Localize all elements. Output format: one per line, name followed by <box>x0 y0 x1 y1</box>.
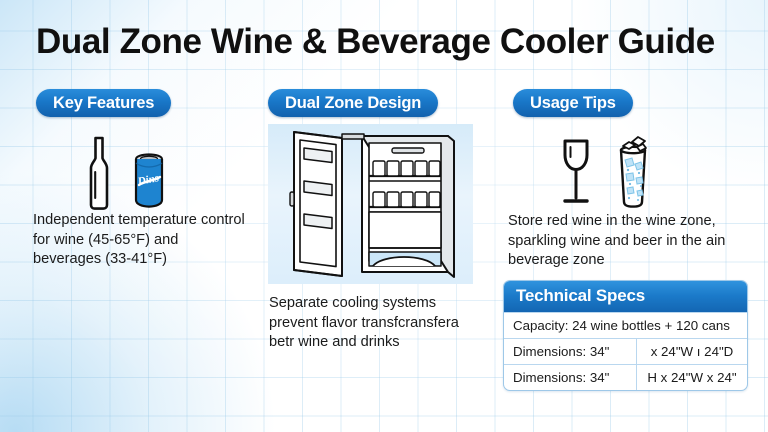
usage-tips-body: Store red wine in the wine zone, sparkli… <box>508 212 751 271</box>
dual-zone-body: Separate cooling systems prevent flavor … <box>269 294 484 353</box>
technical-specs-header: Technical Specs <box>504 281 747 312</box>
spec-dimensions-label-1: Dimensions: 34" <box>504 339 637 364</box>
table-row: Capacity: 24 wine bottles + 120 cans <box>504 312 747 338</box>
spec-dimensions-value-1: x 24"W ı 24"D <box>637 339 747 364</box>
badge-dual-zone-design: Dual Zone Design <box>268 89 438 117</box>
wine-bottle-icon <box>84 136 114 215</box>
spec-dimensions-value-2: H x 24"W x 24" <box>637 365 747 390</box>
iced-drink-glass-icon <box>612 134 652 215</box>
key-features-icon-row: Dins <box>84 136 166 215</box>
badge-key-features: Key Features <box>36 89 171 117</box>
soda-can-icon: Dins <box>132 152 166 215</box>
table-row: Dimensions: 34" H x 24"W x 24" <box>504 364 747 390</box>
spec-dimensions-label-2: Dimensions: 34" <box>504 365 637 390</box>
page-title: Dual Zone Wine & Beverage Cooler Guide <box>36 22 748 62</box>
key-features-body: Independent temperature control for wine… <box>33 211 248 270</box>
badge-usage-tips: Usage Tips <box>513 89 633 117</box>
spec-capacity-value: Capacity: 24 wine bottles + 120 cans <box>504 313 747 338</box>
technical-specs-table: Technical Specs Capacity: 24 wine bottle… <box>503 280 748 391</box>
open-refrigerator-illustration <box>268 124 473 284</box>
wine-glass-icon <box>558 136 594 215</box>
infographic-canvas: Dual Zone Wine & Beverage Cooler Guide K… <box>0 0 768 432</box>
table-row: Dimensions: 34" x 24"W ı 24"D <box>504 338 747 364</box>
usage-tips-icon-row <box>558 134 652 215</box>
